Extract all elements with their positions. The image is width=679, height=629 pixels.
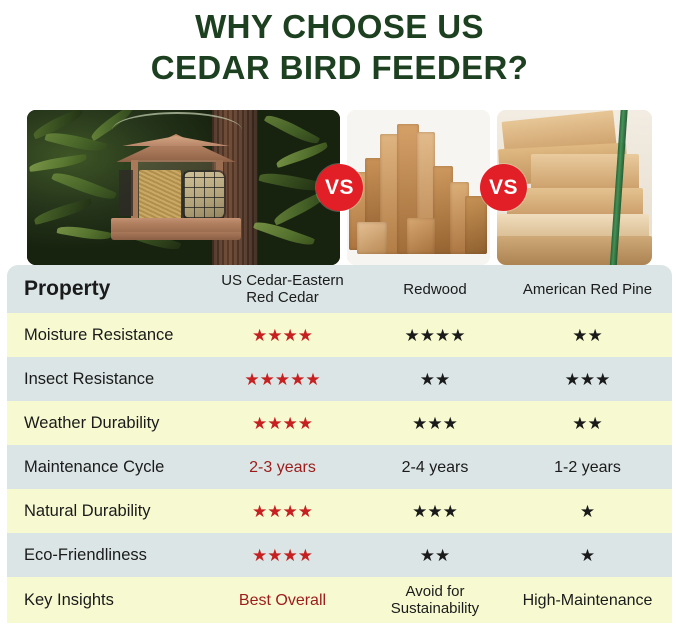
star-icon: ★ bbox=[275, 371, 290, 388]
property-name: Natural Durability bbox=[24, 502, 151, 520]
cell-red-pine: ★ bbox=[497, 503, 672, 520]
star-rating: ★★★ bbox=[373, 503, 497, 520]
star-rating: ★ bbox=[503, 503, 672, 520]
cell-redwood: ★★★ bbox=[367, 415, 497, 432]
firewood-piece bbox=[407, 218, 435, 254]
star-icon: ★ bbox=[412, 415, 427, 432]
star-icon: ★ bbox=[244, 371, 259, 388]
star-icon: ★ bbox=[420, 371, 435, 388]
star-rating: ★ bbox=[503, 547, 672, 564]
feeder-tray-lip bbox=[111, 232, 241, 240]
star-icon: ★ bbox=[290, 371, 305, 388]
cell-us-cedar: ★★★★ bbox=[187, 547, 367, 564]
row-property-label: Key Insights bbox=[7, 591, 187, 610]
cell-us-cedar: 2-3 years bbox=[187, 459, 367, 476]
star-icon: ★ bbox=[435, 547, 450, 564]
star-rating: ★★ bbox=[373, 547, 497, 564]
table-row: Eco-Friendliness★★★★★★★ bbox=[7, 533, 672, 577]
cell-us-cedar: ★★★★★ bbox=[187, 371, 367, 388]
star-icon: ★ bbox=[283, 503, 298, 520]
star-icon: ★ bbox=[305, 371, 320, 388]
cell-us-cedar: ★★★★ bbox=[187, 503, 367, 520]
star-icon: ★ bbox=[580, 503, 595, 520]
star-rating: ★★★★★ bbox=[198, 371, 367, 388]
star-rating: ★★ bbox=[503, 415, 672, 432]
star-rating: ★★★ bbox=[373, 415, 497, 432]
star-icon: ★ bbox=[420, 547, 435, 564]
star-icon: ★ bbox=[267, 503, 282, 520]
cell-redwood: ★★ bbox=[367, 547, 497, 564]
firewood-piece bbox=[465, 196, 487, 254]
star-rating: ★★★★ bbox=[198, 503, 367, 520]
title-line-2: CEDAR BIRD FEEDER? bbox=[0, 47, 679, 88]
star-icon: ★ bbox=[443, 503, 458, 520]
star-icon: ★ bbox=[588, 415, 603, 432]
header-label-redwood: Redwood bbox=[373, 281, 497, 298]
cell-us-cedar: ★★★★ bbox=[187, 327, 367, 344]
cell-redwood: ★★ bbox=[367, 371, 497, 388]
table-row: Moisture Resistance★★★★★★★★★★ bbox=[7, 313, 672, 357]
property-name: Weather Durability bbox=[24, 414, 159, 432]
header-cell-redwood: Redwood bbox=[367, 281, 497, 298]
row-property-label: Weather Durability bbox=[7, 414, 187, 433]
redwood-firewood-photo bbox=[347, 110, 490, 265]
property-name: Maintenance Cycle bbox=[24, 458, 164, 476]
page-title: WHY CHOOSE US CEDAR BIRD FEEDER? bbox=[0, 0, 679, 88]
star-icon: ★ bbox=[572, 327, 587, 344]
vs-badge-1: VS bbox=[316, 164, 363, 211]
cell-red-pine: High-Maintenance bbox=[497, 592, 672, 609]
table-row: Weather Durability★★★★★★★★★ bbox=[7, 401, 672, 445]
star-icon: ★ bbox=[283, 327, 298, 344]
property-name: Insect Resistance bbox=[24, 370, 154, 388]
star-rating: ★★★ bbox=[503, 371, 672, 388]
header-label-us-cedar-line2: Red Cedar bbox=[198, 289, 367, 306]
star-icon: ★ bbox=[252, 547, 267, 564]
table-body: Moisture Resistance★★★★★★★★★★Insect Resi… bbox=[7, 313, 672, 623]
table-row: Key InsightsBest OverallAvoid for Sustai… bbox=[7, 577, 672, 623]
suet-cage-left bbox=[119, 170, 133, 216]
star-icon: ★ bbox=[252, 327, 267, 344]
firewood-piece bbox=[357, 222, 387, 254]
star-icon: ★ bbox=[572, 415, 587, 432]
table-row: Insect Resistance★★★★★★★★★★ bbox=[7, 357, 672, 401]
star-icon: ★ bbox=[283, 547, 298, 564]
star-icon: ★ bbox=[588, 327, 603, 344]
cell-us-cedar: Best Overall bbox=[187, 592, 367, 609]
star-icon: ★ bbox=[267, 547, 282, 564]
row-property-label: Insect Resistance bbox=[7, 370, 187, 389]
cell-red-pine: ★★ bbox=[497, 415, 672, 432]
header-label-red-pine: American Red Pine bbox=[503, 281, 672, 298]
star-rating: ★★★★ bbox=[198, 415, 367, 432]
star-icon: ★ bbox=[298, 415, 313, 432]
property-name: Eco-Friendliness bbox=[24, 546, 147, 564]
row-property-label: Eco-Friendliness bbox=[7, 546, 187, 565]
star-icon: ★ bbox=[252, 415, 267, 432]
row-property-label: Natural Durability bbox=[7, 502, 187, 521]
row-property-label: Maintenance Cycle bbox=[7, 458, 187, 477]
star-icon: ★ bbox=[260, 371, 275, 388]
cell-text: High-Maintenance bbox=[503, 592, 672, 609]
star-icon: ★ bbox=[427, 415, 442, 432]
cell-redwood: ★★★★ bbox=[367, 327, 497, 344]
cell-text: Best Overall bbox=[198, 592, 367, 609]
comparison-table: Property US Cedar-Eastern Red Cedar Redw… bbox=[7, 265, 672, 623]
star-rating: ★★ bbox=[373, 371, 497, 388]
star-icon: ★ bbox=[283, 415, 298, 432]
property-name: Key Insights bbox=[24, 591, 114, 609]
table-row: Natural Durability★★★★★★★★ bbox=[7, 489, 672, 533]
star-rating: ★★★★ bbox=[198, 327, 367, 344]
suet-cake bbox=[184, 172, 224, 218]
star-icon: ★ bbox=[435, 371, 450, 388]
star-icon: ★ bbox=[405, 327, 420, 344]
header-label-property: Property bbox=[24, 277, 110, 300]
cell-text: 2-3 years bbox=[198, 459, 367, 476]
header-cell-property: Property bbox=[7, 277, 187, 301]
cedar-bird-feeder-photo bbox=[27, 110, 340, 265]
cell-redwood: 2-4 years bbox=[367, 459, 497, 476]
star-icon: ★ bbox=[252, 503, 267, 520]
header-cell-red-pine: American Red Pine bbox=[497, 281, 672, 298]
star-icon: ★ bbox=[450, 327, 465, 344]
cell-us-cedar: ★★★★ bbox=[187, 415, 367, 432]
vs-badge-2: VS bbox=[480, 164, 527, 211]
star-rating: ★★★★ bbox=[373, 327, 497, 344]
star-icon: ★ bbox=[298, 327, 313, 344]
star-icon: ★ bbox=[580, 547, 595, 564]
lumber-board bbox=[497, 236, 652, 265]
star-icon: ★ bbox=[298, 503, 313, 520]
star-icon: ★ bbox=[298, 547, 313, 564]
star-icon: ★ bbox=[267, 415, 282, 432]
star-rating: ★★ bbox=[503, 327, 672, 344]
cell-red-pine: ★ bbox=[497, 547, 672, 564]
star-icon: ★ bbox=[435, 327, 450, 344]
cell-text: 2-4 years bbox=[373, 459, 497, 476]
star-icon: ★ bbox=[420, 327, 435, 344]
cell-text: 1-2 years bbox=[503, 459, 672, 476]
star-icon: ★ bbox=[427, 503, 442, 520]
cell-redwood: Avoid for Sustainability bbox=[367, 583, 497, 617]
cell-text: Avoid for Sustainability bbox=[373, 583, 497, 617]
birdseed-hopper bbox=[139, 170, 181, 222]
star-icon: ★ bbox=[412, 503, 427, 520]
star-icon: ★ bbox=[595, 371, 610, 388]
star-icon: ★ bbox=[565, 371, 580, 388]
property-name: Moisture Resistance bbox=[24, 326, 173, 344]
cell-red-pine: 1-2 years bbox=[497, 459, 672, 476]
row-property-label: Moisture Resistance bbox=[7, 326, 187, 345]
cell-red-pine: ★★★ bbox=[497, 371, 672, 388]
cell-red-pine: ★★ bbox=[497, 327, 672, 344]
table-row: Maintenance Cycle2-3 years2-4 years1-2 y… bbox=[7, 445, 672, 489]
table-header-row: Property US Cedar-Eastern Red Cedar Redw… bbox=[7, 265, 672, 313]
header-label-us-cedar-line1: US Cedar-Eastern bbox=[198, 272, 367, 289]
header-cell-us-cedar: US Cedar-Eastern Red Cedar bbox=[187, 272, 367, 306]
star-icon: ★ bbox=[580, 371, 595, 388]
title-line-1: WHY CHOOSE US bbox=[0, 6, 679, 47]
star-rating: ★★★★ bbox=[198, 547, 367, 564]
cell-redwood: ★★★ bbox=[367, 503, 497, 520]
star-icon: ★ bbox=[267, 327, 282, 344]
star-icon: ★ bbox=[443, 415, 458, 432]
